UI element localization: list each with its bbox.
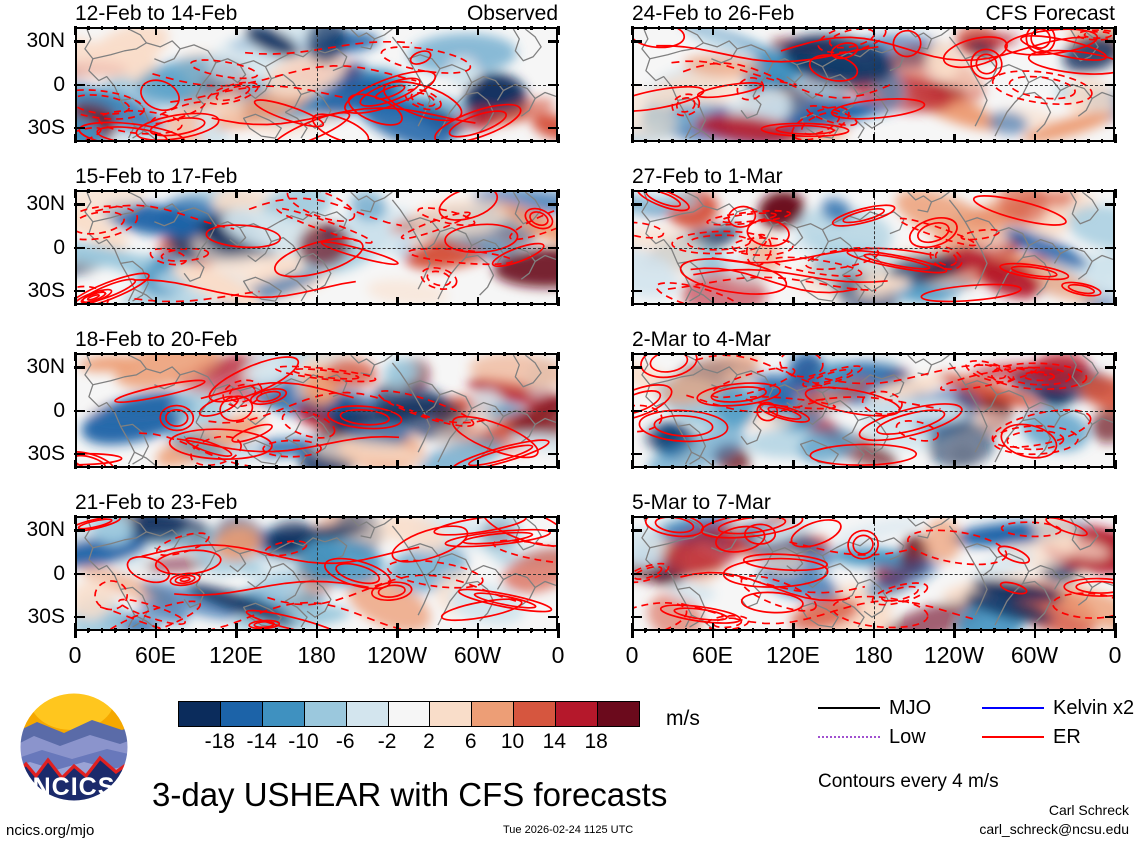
x-tick — [631, 297, 634, 306]
x-axis-tick — [792, 628, 795, 638]
x-tick — [779, 26, 782, 30]
colorbar-swatch — [263, 702, 305, 726]
x-tick — [940, 352, 943, 356]
x-axis-label: 0 — [626, 644, 639, 667]
x-tick — [436, 515, 439, 519]
x-tick — [74, 134, 77, 143]
y-tick — [631, 247, 642, 250]
x-axis-minor-tick — [1087, 628, 1089, 633]
x-tick — [409, 465, 412, 469]
contour-interval-note: Contours every 4 m/s — [818, 772, 999, 791]
y-tick — [74, 453, 85, 456]
x-tick — [1007, 189, 1010, 193]
x-tick — [530, 352, 533, 356]
x-tick — [685, 139, 688, 143]
x-tick — [886, 26, 889, 30]
x-axis-minor-tick — [1020, 628, 1022, 633]
x-tick — [423, 189, 426, 193]
x-tick — [644, 189, 647, 193]
x-tick — [698, 465, 701, 469]
x-axis-minor-tick — [530, 628, 532, 633]
x-tick — [980, 465, 983, 469]
x-tick — [644, 302, 647, 306]
x-tick — [155, 297, 158, 306]
column-header: Observed — [467, 3, 558, 24]
panel: 15-Feb to 17-Feb 30N030S — [75, 166, 558, 305]
x-tick — [698, 302, 701, 306]
x-tick — [302, 302, 305, 306]
x-axis-minor-tick — [181, 628, 183, 633]
x-tick — [101, 189, 104, 193]
x-tick — [316, 26, 319, 35]
x-tick — [517, 302, 520, 306]
x-tick — [342, 465, 345, 469]
colorbar-swatch — [556, 702, 598, 726]
x-tick — [436, 26, 439, 30]
x-tick — [1060, 465, 1063, 469]
x-tick — [208, 515, 211, 519]
x-tick — [517, 465, 520, 469]
x-tick — [913, 465, 916, 469]
x-tick — [752, 465, 755, 469]
x-tick — [779, 189, 782, 193]
y-tick — [631, 84, 642, 87]
x-tick — [779, 139, 782, 143]
x-tick — [490, 302, 493, 306]
x-axis-minor-tick — [87, 628, 89, 633]
x-tick — [1060, 352, 1063, 356]
x-tick — [685, 26, 688, 30]
y-tick — [74, 410, 85, 413]
x-tick — [316, 189, 319, 198]
x-tick — [631, 515, 634, 524]
x-tick — [168, 465, 171, 469]
x-tick — [329, 465, 332, 469]
x-tick — [1007, 26, 1010, 30]
x-tick — [369, 465, 372, 469]
x-tick — [805, 465, 808, 469]
x-tick — [114, 139, 117, 143]
x-tick — [222, 189, 225, 193]
x-tick — [369, 352, 372, 356]
x-tick — [1020, 515, 1023, 519]
x-tick — [396, 26, 399, 35]
x-tick — [423, 302, 426, 306]
x-tick — [530, 26, 533, 30]
x-axis-minor-tick — [128, 628, 130, 633]
x-tick — [765, 465, 768, 469]
x-tick — [819, 515, 822, 519]
x-tick — [859, 302, 862, 306]
x-tick — [966, 189, 969, 193]
x-tick — [248, 26, 251, 30]
x-tick — [557, 26, 560, 35]
x-tick — [1101, 302, 1104, 306]
x-tick — [544, 352, 547, 356]
x-tick — [738, 515, 741, 519]
page-title: 3-day USHEAR with CFS forecasts — [152, 778, 667, 811]
y-tick — [548, 127, 559, 130]
x-tick — [503, 465, 506, 469]
x-tick — [953, 189, 956, 198]
x-tick — [463, 515, 466, 519]
x-tick — [289, 302, 292, 306]
x-tick — [1007, 465, 1010, 469]
x-tick — [530, 465, 533, 469]
x-tick — [644, 26, 647, 30]
x-tick — [544, 515, 547, 519]
x-axis-tick — [316, 628, 319, 638]
map-panel — [75, 353, 558, 468]
x-tick — [262, 465, 265, 469]
x-tick — [846, 352, 849, 356]
x-tick — [779, 515, 782, 519]
x-axis-minor-tick — [980, 628, 982, 633]
x-tick — [248, 515, 251, 519]
y-tick — [74, 529, 85, 532]
x-tick — [477, 460, 480, 469]
x-tick — [886, 352, 889, 356]
x-tick — [671, 515, 674, 519]
x-axis-minor-tick — [275, 628, 277, 633]
x-tick — [752, 302, 755, 306]
x-tick — [832, 302, 835, 306]
colorbar-unit-label: m/s — [666, 708, 700, 729]
x-tick — [819, 139, 822, 143]
x-tick — [685, 189, 688, 193]
x-tick — [208, 26, 211, 30]
x-axis-minor-tick — [463, 628, 465, 633]
x-axis-minor-tick — [1074, 628, 1076, 633]
x-tick — [181, 302, 184, 306]
x-axis-minor-tick — [423, 628, 425, 633]
x-tick — [503, 26, 506, 30]
x-tick — [275, 352, 278, 356]
x-axis-minor-tick — [356, 628, 358, 633]
x-tick — [738, 302, 741, 306]
colorbar-swatch — [514, 702, 556, 726]
legend-item: MJO — [818, 698, 931, 718]
x-tick — [128, 515, 131, 519]
x-tick — [128, 465, 131, 469]
x-tick — [450, 302, 453, 306]
x-tick — [262, 26, 265, 30]
x-tick — [725, 515, 728, 519]
x-tick — [141, 189, 144, 193]
x-tick — [316, 460, 319, 469]
x-tick — [195, 302, 198, 306]
panel-title: 24-Feb to 26-Feb — [632, 3, 794, 24]
colorbar-tick-label: 2 — [423, 731, 435, 752]
x-tick — [940, 465, 943, 469]
x-axis-minor-tick — [1047, 628, 1049, 633]
x-tick — [208, 302, 211, 306]
x-tick — [873, 134, 876, 143]
map-panel — [75, 190, 558, 305]
x-tick — [544, 189, 547, 193]
x-axis-minor-tick — [342, 628, 344, 633]
y-tick — [1105, 40, 1116, 43]
x-tick — [155, 134, 158, 143]
x-tick — [423, 26, 426, 30]
x-tick — [1047, 302, 1050, 306]
x-axis-minor-tick — [544, 628, 546, 633]
x-tick — [302, 139, 305, 143]
panel: 27-Feb to 1-Mar — [632, 166, 1115, 305]
x-tick — [832, 189, 835, 193]
x-tick — [289, 189, 292, 193]
x-axis-minor-tick — [846, 628, 848, 633]
x-tick — [846, 189, 849, 193]
x-tick — [671, 352, 674, 356]
y-tick — [1105, 290, 1116, 293]
x-tick — [181, 465, 184, 469]
x-tick — [316, 515, 319, 524]
x-axis-minor-tick — [409, 628, 411, 633]
panel-title: 5-Mar to 7-Mar — [632, 492, 771, 513]
x-tick — [940, 302, 943, 306]
x-axis-observed: 060E120E180120W60W0 — [75, 628, 558, 668]
x-tick — [698, 515, 701, 519]
x-tick — [819, 465, 822, 469]
x-tick — [980, 26, 983, 30]
x-tick — [289, 352, 292, 356]
x-axis-minor-tick — [738, 628, 740, 633]
x-tick — [396, 134, 399, 143]
x-tick — [980, 302, 983, 306]
y-tick — [1105, 573, 1116, 576]
x-tick — [1087, 352, 1090, 356]
x-tick — [302, 352, 305, 356]
x-axis-minor-tick — [503, 628, 505, 633]
x-tick — [644, 515, 647, 519]
x-tick — [87, 26, 90, 30]
x-axis-label: 120W — [924, 644, 984, 667]
y-tick — [74, 40, 85, 43]
x-tick — [993, 465, 996, 469]
x-tick — [195, 515, 198, 519]
x-tick — [1114, 297, 1117, 306]
x-tick — [128, 302, 131, 306]
x-axis-minor-tick — [490, 628, 492, 633]
x-tick — [168, 515, 171, 519]
x-tick — [396, 352, 399, 361]
x-tick — [275, 189, 278, 193]
y-tick — [548, 247, 559, 250]
y-tick — [631, 127, 642, 130]
x-axis-minor-tick — [1007, 628, 1009, 633]
x-axis-label: 180 — [854, 644, 892, 667]
x-tick — [181, 352, 184, 356]
x-tick — [1114, 134, 1117, 143]
x-tick — [1034, 189, 1037, 198]
x-tick — [712, 460, 715, 469]
map-panel — [75, 516, 558, 631]
site-url: ncics.org/mjo — [6, 823, 94, 838]
colorbar-tick-label: 18 — [584, 731, 607, 752]
x-tick — [195, 465, 198, 469]
x-tick — [873, 515, 876, 524]
x-axis-label: 60E — [692, 644, 733, 667]
x-tick — [873, 297, 876, 306]
x-tick — [1060, 302, 1063, 306]
dateline-line — [317, 355, 318, 466]
x-tick — [993, 189, 996, 193]
x-tick — [1007, 352, 1010, 356]
x-tick — [859, 465, 862, 469]
colorbar-tick-label: -18 — [205, 731, 235, 752]
x-tick — [953, 26, 956, 35]
x-tick — [128, 352, 131, 356]
panel-title: 15-Feb to 17-Feb — [75, 166, 237, 187]
x-tick — [503, 352, 506, 356]
y-tick — [548, 40, 559, 43]
x-tick — [329, 352, 332, 356]
x-tick — [993, 139, 996, 143]
x-tick — [248, 189, 251, 193]
x-tick — [980, 189, 983, 193]
y-tick — [548, 84, 559, 87]
x-axis-minor-tick — [141, 628, 143, 633]
x-tick — [490, 465, 493, 469]
x-tick — [1020, 189, 1023, 193]
x-axis-minor-tick — [168, 628, 170, 633]
legend-item: Low — [818, 727, 926, 747]
x-tick — [1087, 515, 1090, 519]
legend-item: ER — [982, 727, 1081, 747]
x-axis-minor-tick — [436, 628, 438, 633]
y-tick — [1105, 84, 1116, 87]
x-tick — [275, 465, 278, 469]
y-axis-label: 30N — [0, 30, 65, 51]
x-axis-minor-tick — [859, 628, 861, 633]
x-axis-label: 60E — [135, 644, 176, 667]
x-tick — [141, 465, 144, 469]
map-panel — [75, 27, 558, 142]
x-tick — [316, 134, 319, 143]
x-tick — [195, 26, 198, 30]
x-tick — [859, 26, 862, 30]
colorbar-swatch — [430, 702, 472, 726]
x-tick — [752, 515, 755, 519]
x-tick — [195, 139, 198, 143]
map-panel — [632, 190, 1115, 305]
x-tick — [383, 465, 386, 469]
x-tick — [490, 352, 493, 356]
x-axis-tick — [557, 628, 560, 638]
x-tick — [423, 465, 426, 469]
x-tick — [765, 26, 768, 30]
x-tick — [1074, 26, 1077, 30]
x-axis-minor-tick — [329, 628, 331, 633]
y-axis-label: 30N — [0, 193, 65, 214]
x-tick — [477, 515, 480, 524]
x-tick — [658, 189, 661, 193]
x-tick — [383, 352, 386, 356]
y-axis-label: 30S — [0, 443, 65, 464]
x-tick — [966, 515, 969, 519]
x-tick — [966, 302, 969, 306]
x-tick — [953, 515, 956, 524]
x-tick — [1114, 189, 1117, 198]
x-tick — [1007, 515, 1010, 519]
x-tick — [369, 139, 372, 143]
x-tick — [671, 26, 674, 30]
x-tick — [658, 465, 661, 469]
x-tick — [369, 515, 372, 519]
x-tick — [819, 302, 822, 306]
x-tick — [1087, 26, 1090, 30]
x-tick — [899, 352, 902, 356]
author-email: carl_schreck@ncsu.edu — [979, 822, 1129, 836]
x-tick — [886, 139, 889, 143]
x-tick — [490, 26, 493, 30]
x-tick — [738, 26, 741, 30]
x-tick — [396, 189, 399, 198]
x-tick — [369, 189, 372, 193]
x-tick — [859, 189, 862, 193]
x-tick — [752, 139, 755, 143]
x-tick — [503, 189, 506, 193]
x-tick — [913, 26, 916, 30]
logo-text: NCICS — [33, 773, 116, 801]
x-tick — [1020, 352, 1023, 356]
x-tick — [87, 302, 90, 306]
y-tick — [1105, 453, 1116, 456]
x-tick — [671, 189, 674, 193]
x-tick — [289, 26, 292, 30]
x-axis-minor-tick — [966, 628, 968, 633]
x-tick — [926, 465, 929, 469]
x-tick — [1034, 134, 1037, 143]
x-tick — [698, 139, 701, 143]
x-tick — [738, 139, 741, 143]
x-tick — [155, 352, 158, 361]
colorbar-tick-label: 6 — [465, 731, 477, 752]
x-tick — [128, 189, 131, 193]
x-tick — [779, 302, 782, 306]
x-tick — [181, 139, 184, 143]
x-tick — [873, 460, 876, 469]
x-axis-minor-tick — [779, 628, 781, 633]
x-tick — [886, 302, 889, 306]
y-axis-label: 30S — [0, 117, 65, 138]
x-tick — [383, 189, 386, 193]
x-tick — [1060, 139, 1063, 143]
x-tick — [463, 465, 466, 469]
x-tick — [725, 465, 728, 469]
colorbar — [178, 701, 640, 727]
y-tick — [631, 573, 642, 576]
x-tick — [644, 139, 647, 143]
x-tick — [725, 352, 728, 356]
x-axis-tick — [712, 628, 715, 638]
y-axis-label: 30N — [0, 356, 65, 377]
x-tick — [155, 189, 158, 198]
x-tick — [1114, 352, 1117, 361]
x-tick — [685, 465, 688, 469]
x-axis-label: 60W — [454, 644, 501, 667]
x-axis-minor-tick — [302, 628, 304, 633]
x-axis-minor-tick — [644, 628, 646, 633]
x-tick — [101, 26, 104, 30]
x-tick — [168, 352, 171, 356]
dateline-line — [317, 29, 318, 140]
x-axis-minor-tick — [1101, 628, 1103, 633]
y-tick — [548, 203, 559, 206]
panel-title: 2-Mar to 4-Mar — [632, 329, 771, 350]
x-tick — [899, 139, 902, 143]
